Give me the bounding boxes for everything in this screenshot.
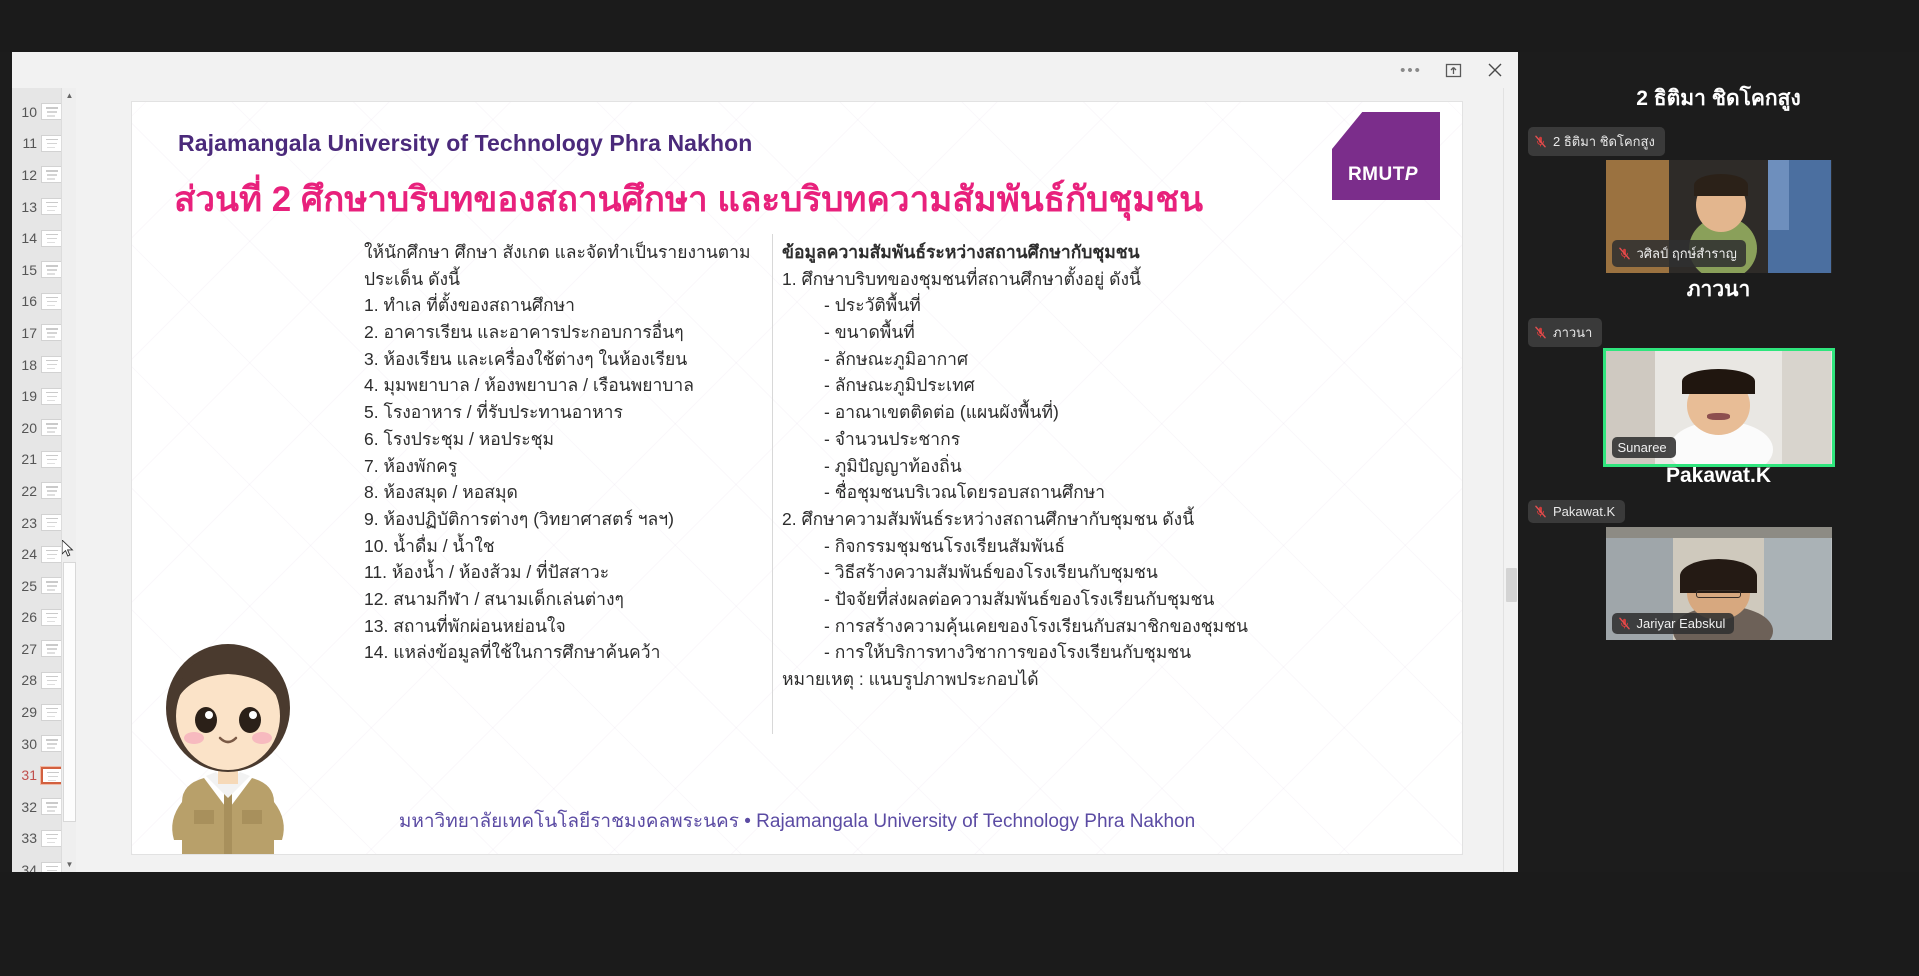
participant-heading: ภาวนา — [1687, 273, 1751, 306]
right-column-item: 2. ศึกษาความสัมพันธ์ระหว่างสถานศึกษากับช… — [782, 506, 1342, 533]
slide-31: Rajamangala University of Technology Phr… — [132, 102, 1462, 854]
slide-thumbnail-rail[interactable]: 1011121314151617181920212223242526272829… — [12, 88, 76, 872]
right-column-subitem: - ภูมิปัญญาท้องถิ่น — [782, 453, 1342, 480]
right-column-subitem: - จำนวนประชากร — [782, 426, 1342, 453]
slide-headline: Rajamangala University of Technology Phr… — [178, 130, 752, 157]
left-column-item: 5. โรงอาหาร / ที่รับประทานอาหาร — [364, 399, 784, 426]
right-column-subitem: - วิธีสร้างความสัมพันธ์ของโรงเรียนกับชุม… — [782, 559, 1342, 586]
participant-tile[interactable]: ภาวนาภาวนาSunaree — [1518, 273, 1919, 464]
slide-number: 17 — [17, 325, 37, 341]
screen: ••• 101112131415161718192021222324252627… — [0, 0, 1919, 976]
slide-number: 22 — [17, 483, 37, 499]
slide-number: 21 — [17, 451, 37, 467]
participant-tile[interactable]: Pakawat.KPakawat.KJariyar Eabskul — [1518, 464, 1919, 640]
participant-video-label-text: Sunaree — [1618, 440, 1667, 455]
slide-number: 24 — [17, 546, 37, 562]
slide-number: 10 — [17, 104, 37, 120]
slide-number: 30 — [17, 736, 37, 752]
right-column-subitem: - อาณาเขตติดต่อ (แผนผังพื้นที่) — [782, 399, 1342, 426]
window-titlebar: ••• — [12, 52, 1518, 88]
window-body: 1011121314151617181920212223242526272829… — [12, 88, 1518, 872]
left-column: ให้นักศึกษา ศึกษา สังเกต และจัดทำเป็นราย… — [364, 239, 784, 666]
powerpoint-window: ••• 101112131415161718192021222324252627… — [12, 52, 1518, 872]
left-column-item: 3. ห้องเรียน และเครื่องใช้ต่างๆ ในห้องเร… — [364, 346, 784, 373]
rail-scroll-down-icon[interactable]: ▼ — [62, 857, 76, 872]
right-column: ข้อมูลความสัมพันธ์ระหว่างสถานศึกษากับชุม… — [782, 239, 1342, 693]
left-column-item: 2. อาคารเรียน และอาคารประกอบการอื่นๆ — [364, 319, 784, 346]
left-column-item: 9. ห้องปฏิบัติการต่างๆ (วิทยาศาสตร์ ฯลฯ) — [364, 506, 784, 533]
slide-number: 34 — [17, 862, 37, 872]
mic-off-icon — [1618, 247, 1631, 260]
rail-scroll-up-icon[interactable]: ▲ — [62, 88, 76, 103]
slide-number: 14 — [17, 230, 37, 246]
slide-number: 27 — [17, 641, 37, 657]
participant-heading: Pakawat.K — [1666, 464, 1771, 488]
left-column-item: 12. สนามกีฬา / สนามเด็กเล่นต่างๆ — [364, 586, 784, 613]
slide-number: 29 — [17, 704, 37, 720]
slide-number: 13 — [17, 199, 37, 215]
slide-number: 28 — [17, 672, 37, 688]
participant-list: 2 ธิติมา ชิดโคกสูง2 ธิติมา ชิดโคกสูงวศิล… — [1518, 82, 1919, 640]
participant-nameplate: ภาวนา — [1528, 318, 1602, 347]
slide-number: 33 — [17, 830, 37, 846]
participant-video-label: Jariyar Eabskul — [1612, 613, 1735, 634]
participant-nameplate: Pakawat.K — [1528, 500, 1625, 523]
right-column-subitem: - การให้บริการทางวิชาการของโรงเรียนกับชุ… — [782, 639, 1342, 666]
participant-video[interactable]: วศิลป์ ฤกษ์สำราญ — [1606, 160, 1832, 273]
left-column-item: 11. ห้องน้ำ / ห้องส้วม / ที่ปัสสาวะ — [364, 559, 784, 586]
letterbox-bottom — [0, 872, 1919, 976]
mic-off-icon — [1618, 617, 1631, 630]
slide-number: 32 — [17, 799, 37, 815]
right-column-subitem: - ขนาดพื้นที่ — [782, 319, 1342, 346]
slide-number: 18 — [17, 357, 37, 373]
right-column-item: 1. ศึกษาบริบทของชุมชนที่สถานศึกษาตั้งอยู… — [782, 266, 1342, 293]
rail-scrollbar[interactable]: ▲ ▼ — [61, 88, 76, 872]
slide-number: 16 — [17, 293, 37, 309]
left-column-item: 14. แหล่งข้อมูลที่ใช้ในการศึกษาค้นคว้า — [364, 639, 784, 666]
right-column-subitem: - การสร้างความคุ้นเคยของโรงเรียนกับสมาชิ… — [782, 613, 1342, 640]
rail-scroll-thumb[interactable] — [63, 562, 76, 822]
participant-video[interactable]: Sunaree — [1606, 351, 1832, 464]
slide-number: 15 — [17, 262, 37, 278]
participant-heading: 2 ธิติมา ชิดโคกสูง — [1636, 82, 1800, 115]
right-column-item: หมายเหตุ : แนบรูปภาพประกอบได้ — [782, 666, 1342, 693]
right-column-subitem: - ลักษณะภูมิประเทศ — [782, 372, 1342, 399]
more-options-icon[interactable]: ••• — [1398, 59, 1424, 81]
participant-video-label: Sunaree — [1612, 437, 1676, 458]
mic-off-icon — [1534, 505, 1547, 518]
right-column-heading: ข้อมูลความสัมพันธ์ระหว่างสถานศึกษากับชุม… — [782, 239, 1342, 266]
participant-video[interactable]: Jariyar Eabskul — [1606, 527, 1832, 640]
left-column-item: 10. น้ำดื่ม / น้ำใช — [364, 533, 784, 560]
slide-number: 25 — [17, 578, 37, 594]
slide-number: 31 — [17, 767, 37, 783]
participant-nameplate-label: 2 ธิติมา ชิดโคกสูง — [1553, 131, 1655, 152]
right-column-subitem: - ปัจจัยที่ส่งผลต่อความสัมพันธ์ของโรงเรี… — [782, 586, 1342, 613]
participant-video-label-text: วศิลป์ ฤกษ์สำราญ — [1637, 243, 1737, 264]
left-column-intro: ให้นักศึกษา ศึกษา สังเกต และจัดทำเป็นราย… — [364, 239, 784, 292]
slide-number: 11 — [17, 135, 37, 151]
right-column-subitem: - กิจกรรมชุมชนโรงเรียนสัมพันธ์ — [782, 533, 1342, 560]
close-window-icon[interactable] — [1482, 59, 1508, 81]
slide-canvas-area: Rajamangala University of Technology Phr… — [76, 88, 1518, 872]
slide-number: 19 — [17, 388, 37, 404]
slide-number: 20 — [17, 420, 37, 436]
participant-nameplate: 2 ธิติมา ชิดโคกสูง — [1528, 127, 1665, 156]
slide-scroll-thumb[interactable] — [1506, 568, 1517, 602]
participant-video-label-text: Jariyar Eabskul — [1637, 616, 1726, 631]
slide-number: 23 — [17, 515, 37, 531]
right-column-subitem: - ชื่อชุมชนบริเวณโดยรอบสถานศึกษา — [782, 479, 1342, 506]
right-column-list: 1. ศึกษาบริบทของชุมชนที่สถานศึกษาตั้งอยู… — [782, 266, 1342, 693]
left-column-item: 7. ห้องพักครู — [364, 453, 784, 480]
slide-number: 12 — [17, 167, 37, 183]
letterbox-top — [0, 0, 1919, 52]
left-column-item: 4. มุมพยาบาล / ห้องพยาบาล / เรือนพยาบาล — [364, 372, 784, 399]
participant-nameplate-label: Pakawat.K — [1553, 504, 1615, 519]
left-column-item: 1. ทำเล ที่ตั้งของสถานศึกษา — [364, 292, 784, 319]
slide-footer: มหาวิทยาลัยเทคโนโลยีราชมงคลพระนคร • Raja… — [132, 806, 1462, 836]
participant-tile[interactable]: 2 ธิติมา ชิดโคกสูง2 ธิติมา ชิดโคกสูงวศิล… — [1518, 82, 1919, 273]
left-column-item: 8. ห้องสมุด / หอสมุด — [364, 479, 784, 506]
left-column-list: 1. ทำเล ที่ตั้งของสถานศึกษา2. อาคารเรียน… — [364, 292, 784, 666]
mic-off-icon — [1534, 326, 1547, 339]
left-column-item: 13. สถานที่พักผ่อนหย่อนใจ — [364, 613, 784, 640]
slide-number: 26 — [17, 609, 37, 625]
restore-window-icon[interactable] — [1440, 59, 1466, 81]
left-column-item: 6. โรงประชุม / หอประชุม — [364, 426, 784, 453]
slide-title: ส่วนที่ 2 ศึกษาบริบทของสถานศึกษา และบริบ… — [174, 172, 1422, 227]
participant-video-label: วศิลป์ ฤกษ์สำราญ — [1612, 240, 1746, 267]
mic-off-icon — [1534, 135, 1547, 148]
slide-area-scrollbar[interactable] — [1503, 88, 1518, 872]
right-column-subitem: - ลักษณะภูมิอากาศ — [782, 346, 1342, 373]
participant-nameplate-label: ภาวนา — [1553, 322, 1592, 343]
right-column-subitem: - ประวัติพื้นที่ — [782, 292, 1342, 319]
mouse-cursor — [62, 540, 74, 558]
participant-sidebar: 2 ธิติมา ชิดโคกสูง2 ธิติมา ชิดโคกสูงวศิล… — [1518, 52, 1919, 872]
